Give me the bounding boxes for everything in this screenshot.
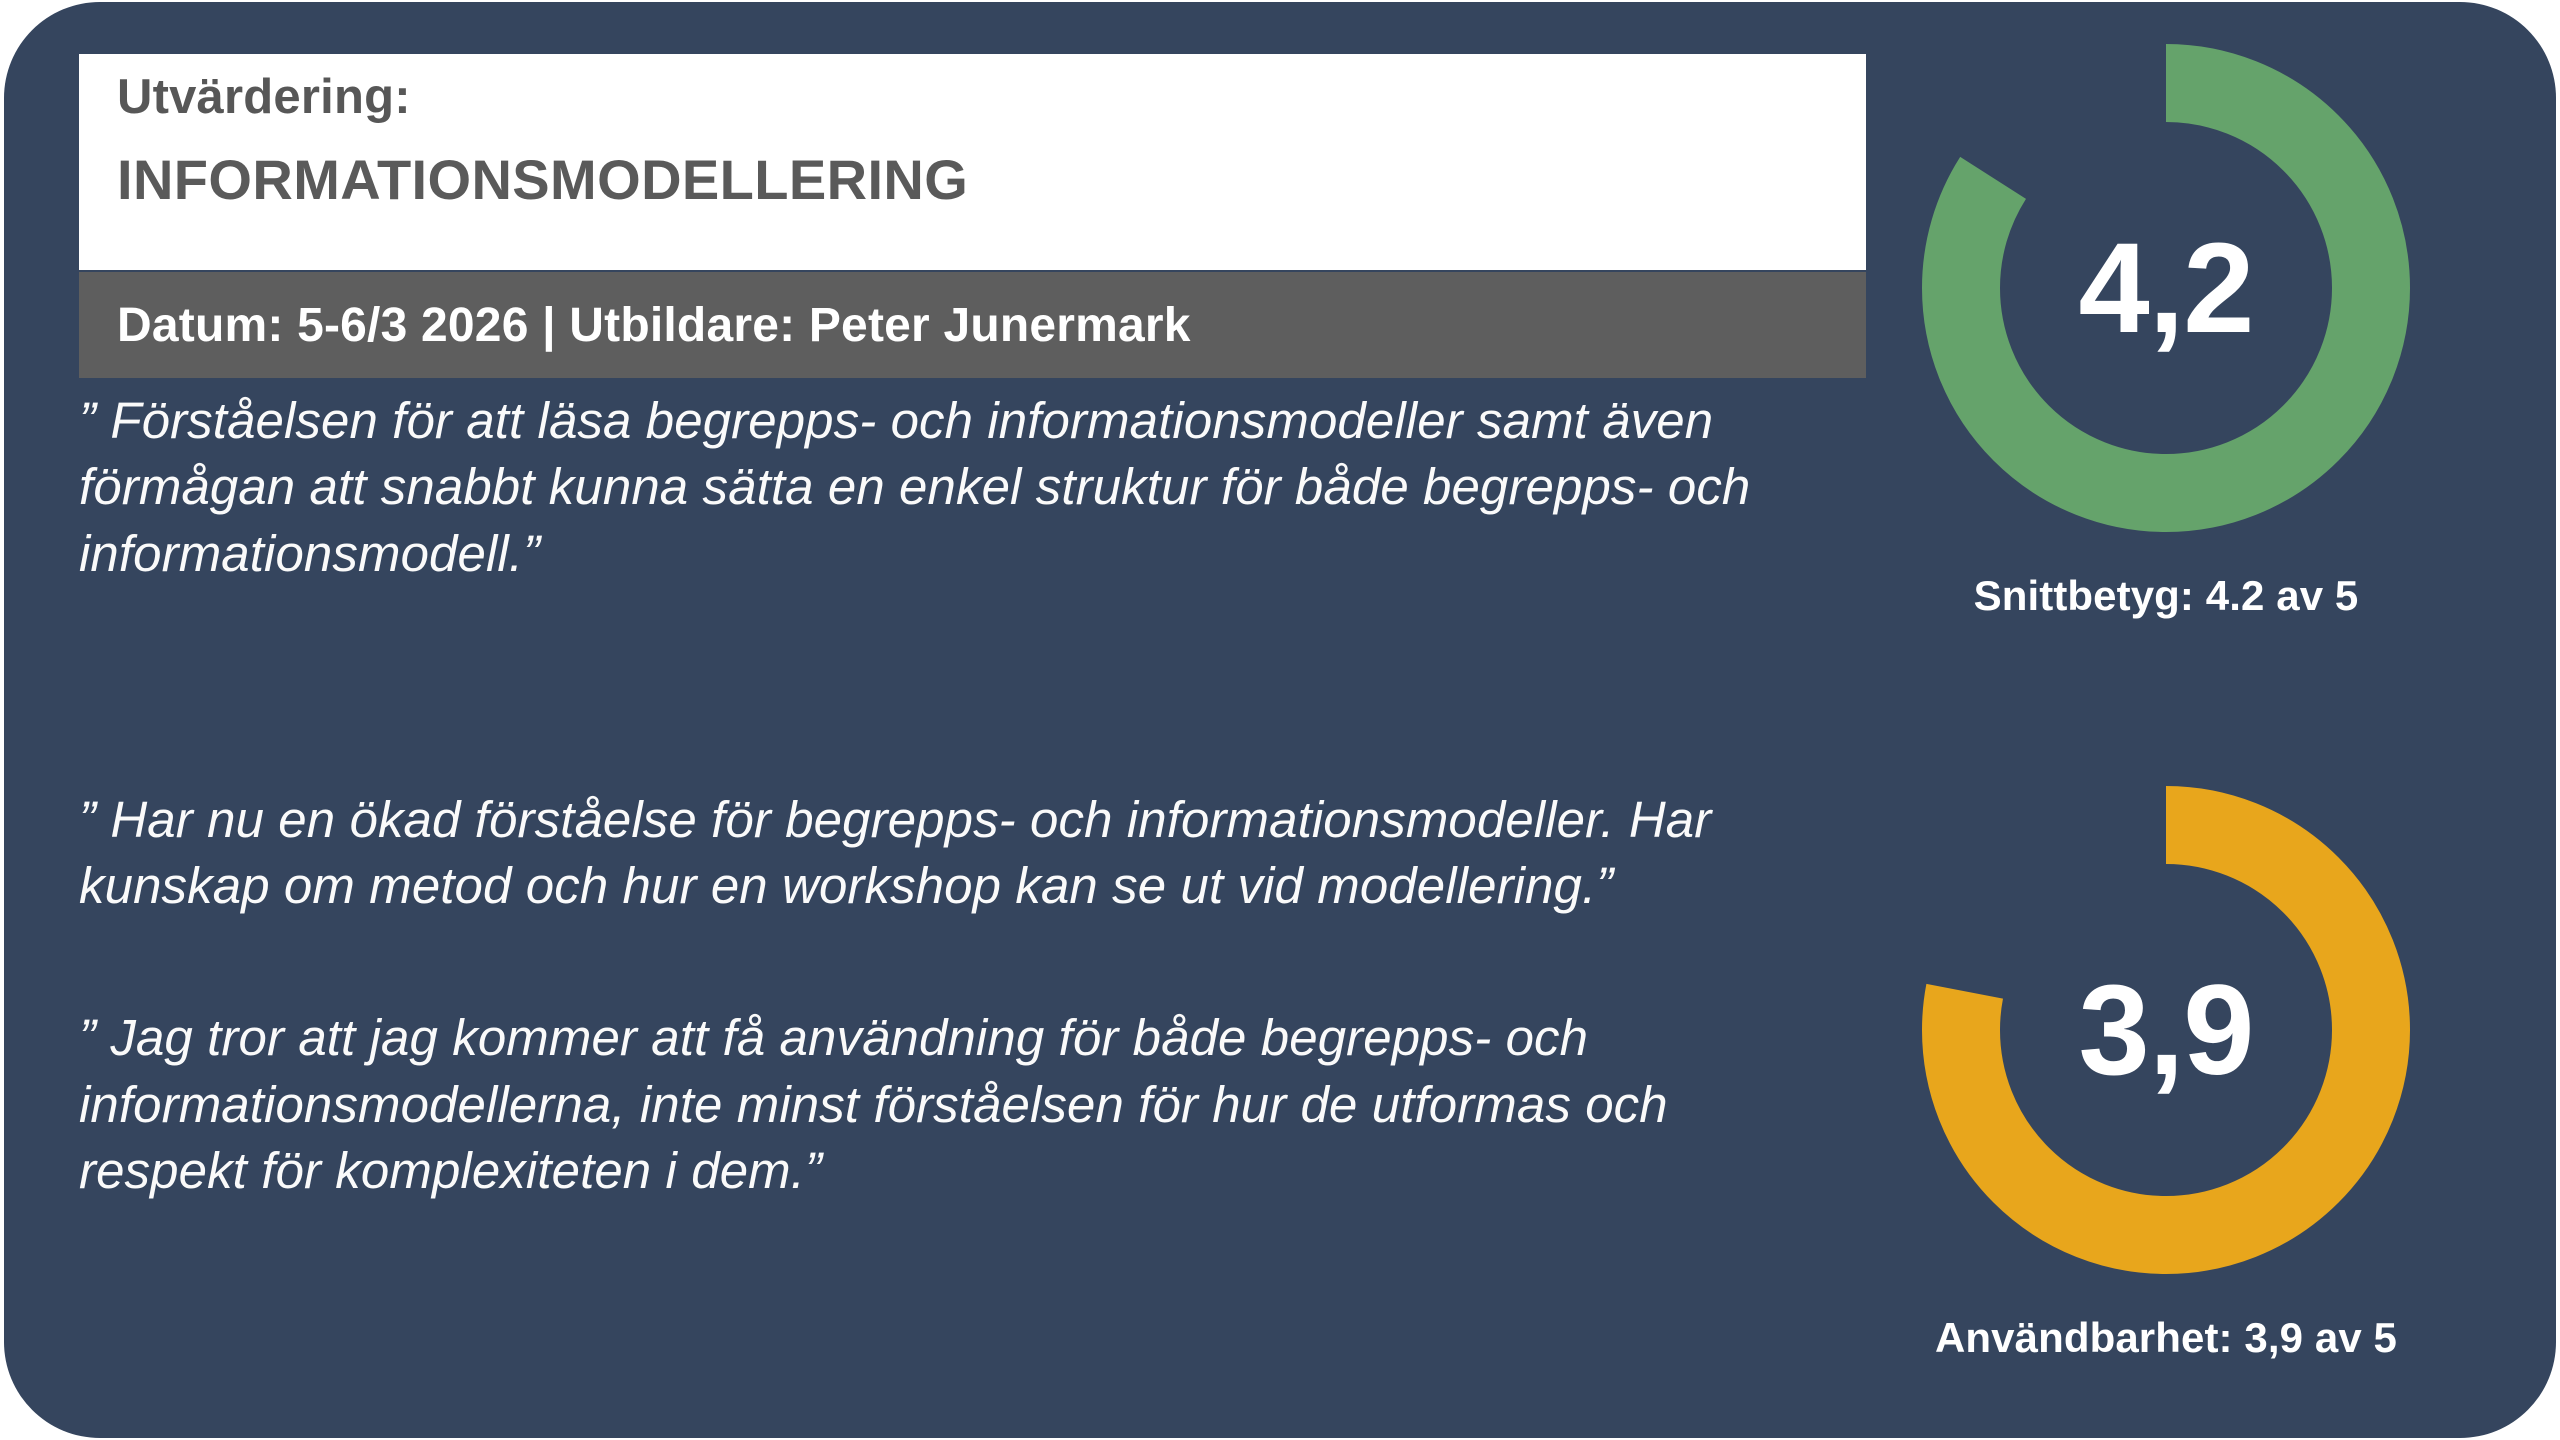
gauge-value-snittbetyg: 4,2 bbox=[1916, 38, 2416, 538]
date-instructor-text: Datum: 5-6/3 2026 | Utbildare: Peter Jun… bbox=[117, 298, 1191, 353]
quote-item: ” Har nu en ökad förståelse för begrepps… bbox=[79, 787, 1839, 920]
gauge-caption-anvandbarhet: Användbarhet: 3,9 av 5 bbox=[1935, 1314, 2397, 1362]
donut-chart-snittbetyg: 4,2 bbox=[1916, 38, 2416, 538]
gauge-value-anvandbarhet: 3,9 bbox=[1916, 780, 2416, 1280]
gauge-anvandbarhet: 3,9 Användbarhet: 3,9 av 5 bbox=[1896, 780, 2436, 1362]
quote-list: ” Förståelsen för att läsa begrepps- och… bbox=[79, 388, 1839, 1204]
evaluation-card: Utvärdering: INFORMATIONSMODELLERING Dat… bbox=[4, 2, 2556, 1438]
quote-item: ” Jag tror att jag kommer att få användn… bbox=[79, 1005, 1839, 1204]
title-box: Utvärdering: INFORMATIONSMODELLERING bbox=[79, 54, 1866, 270]
gauge-caption-snittbetyg: Snittbetyg: 4.2 av 5 bbox=[1974, 572, 2359, 620]
eyebrow-label: Utvärdering: bbox=[117, 72, 1866, 123]
gauge-snittbetyg: 4,2 Snittbetyg: 4.2 av 5 bbox=[1896, 38, 2436, 620]
quote-item: ” Förståelsen för att läsa begrepps- och… bbox=[79, 388, 1839, 587]
slide-canvas: Utvärdering: INFORMATIONSMODELLERING Dat… bbox=[0, 0, 2560, 1440]
date-bar: Datum: 5-6/3 2026 | Utbildare: Peter Jun… bbox=[79, 272, 1866, 378]
page-title: INFORMATIONSMODELLERING bbox=[117, 151, 1866, 210]
donut-chart-anvandbarhet: 3,9 bbox=[1916, 780, 2416, 1280]
